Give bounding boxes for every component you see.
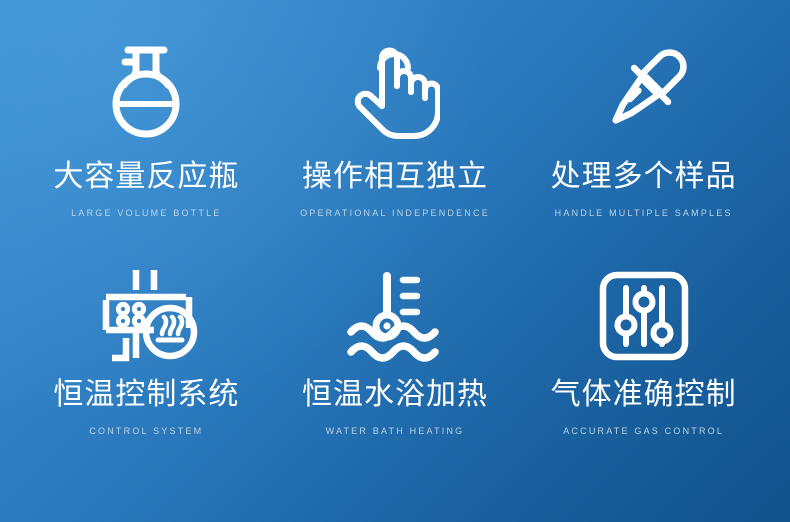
feature-banner: 大容量反应瓶 LARGE VOLUME BOTTLE 操作相互独立 OPERAT… xyxy=(0,0,790,522)
feature-card-accurate-gas-control: 气体准确控制 ACCURATE GAS CONTROL xyxy=(519,262,768,488)
pointing-hand-tap-icon xyxy=(350,36,440,148)
thermometer-water-waves-icon xyxy=(345,262,445,370)
feature-title-en: HANDLE MULTIPLE SAMPLES xyxy=(555,209,733,218)
feature-card-handle-multiple-samples: 处理多个样品 HANDLE MULTIPLE SAMPLES xyxy=(519,36,768,262)
feature-grid: 大容量反应瓶 LARGE VOLUME BOTTLE 操作相互独立 OPERAT… xyxy=(0,0,790,522)
feature-title-cn: 恒温水浴加热 xyxy=(302,380,488,410)
slider-equalizer-icon xyxy=(597,262,691,370)
feature-title-en: CONTROL SYSTEM xyxy=(89,427,203,436)
feature-title-en: OPERATIONAL INDEPENDENCE xyxy=(300,209,490,218)
feature-title-cn: 操作相互独立 xyxy=(302,162,488,192)
feature-title-en: LARGE VOLUME BOTTLE xyxy=(71,209,221,218)
feature-card-operational-independence: 操作相互独立 OPERATIONAL INDEPENDENCE xyxy=(271,36,520,262)
feature-title-cn: 处理多个样品 xyxy=(551,162,737,192)
feature-title-en: WATER BATH HEATING xyxy=(326,427,465,436)
control-panel-heater-icon xyxy=(90,262,202,370)
feature-card-large-volume-bottle: 大容量反应瓶 LARGE VOLUME BOTTLE xyxy=(22,36,271,262)
feature-title-en: ACCURATE GAS CONTROL xyxy=(563,427,724,436)
feature-title-cn: 恒温控制系统 xyxy=(53,380,239,410)
feature-title-cn: 大容量反应瓶 xyxy=(53,162,239,192)
feature-card-water-bath-heating: 恒温水浴加热 WATER BATH HEATING xyxy=(271,262,520,488)
feature-card-control-system: 恒温控制系统 CONTROL SYSTEM xyxy=(22,262,271,488)
feature-title-cn: 气体准确控制 xyxy=(551,380,737,410)
round-bottom-flask-icon xyxy=(98,36,194,148)
pipette-dropper-icon xyxy=(592,36,696,148)
